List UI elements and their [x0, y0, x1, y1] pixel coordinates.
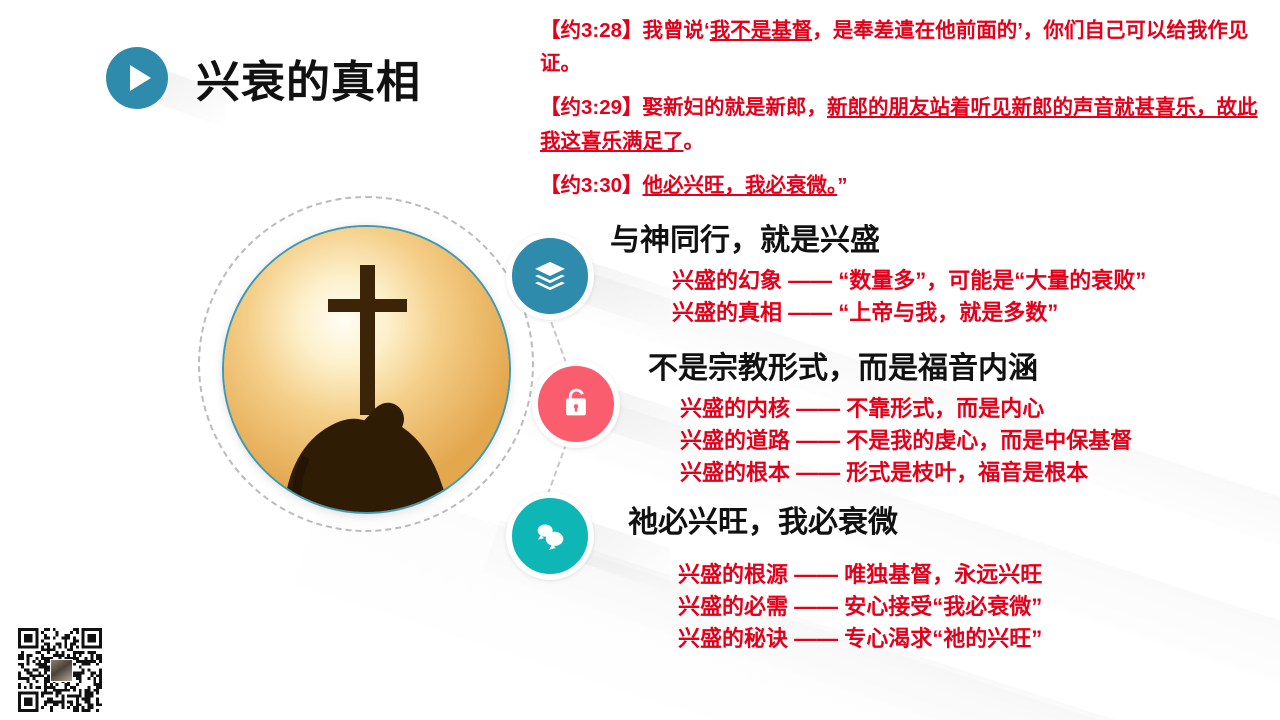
scripture-verse: 【约3:28】我曾说‘我不是基督，是奉差遣在他前面的’，你们自己可以给我作见证。: [540, 14, 1270, 80]
connector-line-2: [547, 443, 567, 494]
section-3: 祂必兴旺，我必衰微 兴盛的根源 —— 唯独基督，永远兴旺 兴盛的必需 —— 安心…: [628, 506, 1042, 655]
section-1-heading: 与神同行，就是兴盛: [610, 224, 1146, 259]
scripture-verse: 【约3:30】他必兴旺，我必衰微。”: [540, 169, 1270, 202]
scripture-verse: 【约3:29】娶新妇的就是新郎，新郎的朋友站着听见新郎的声音就甚喜乐，故此我这喜…: [540, 91, 1270, 157]
verse-text: 。: [684, 130, 705, 153]
qr-center-logo: [50, 659, 73, 682]
qr-code[interactable]: [18, 628, 102, 712]
section-2-line-3: 兴盛的根本 —— 形式是枝叶，福音是根本: [680, 457, 1132, 489]
sunset-cross-photo: [222, 225, 511, 514]
section-2-lines: 兴盛的内核 —— 不靠形式，而是内心 兴盛的道路 —— 不是我的虔心，而是中保基…: [648, 393, 1132, 489]
section-2-heading: 不是宗教形式，而是福音内涵: [648, 352, 1132, 387]
verse-reference: 【约3:28】: [540, 19, 643, 42]
verse-reference: 【约3:30】: [540, 174, 643, 197]
section-1-line-2: 兴盛的真相 —— “上帝与我，就是多数”: [672, 297, 1146, 329]
verse-text: 我曾说‘: [643, 19, 710, 42]
brand-logo: [88, 28, 192, 132]
play-button-icon[interactable]: [106, 47, 168, 109]
section-3-lines: 兴盛的根源 —— 唯独基督，永远兴旺 兴盛的必需 —— 安心接受“我必衰微” 兴…: [628, 559, 1042, 655]
page-title: 兴衰的真相: [196, 46, 421, 110]
scripture-block: 【约3:28】我曾说‘我不是基督，是奉差遣在他前面的’，你们自己可以给我作见证。…: [540, 14, 1270, 213]
section-3-line-3: 兴盛的秘诀 —— 专心渴求“祂的兴旺”: [678, 623, 1042, 655]
section-1: 与神同行，就是兴盛 兴盛的幻象 —— “数量多”，可能是“大量的衰败” 兴盛的真…: [610, 224, 1146, 329]
verse-text: 娶新妇的就是新郎，: [643, 96, 828, 119]
chat-bubbles-icon[interactable]: [506, 492, 594, 580]
section-3-heading: 祂必兴旺，我必衰微: [628, 506, 1042, 541]
section-2-line-1: 兴盛的内核 —— 不靠形式，而是内心: [680, 393, 1132, 425]
section-3-line-2: 兴盛的必需 —— 安心接受“我必衰微”: [678, 591, 1042, 623]
section-3-line-1: 兴盛的根源 —— 唯独基督，永远兴旺: [678, 559, 1042, 591]
section-2-line-2: 兴盛的道路 —— 不是我的虔心，而是中保基督: [680, 425, 1132, 457]
section-1-line-1: 兴盛的幻象 —— “数量多”，可能是“大量的衰败”: [672, 265, 1146, 297]
layers-icon[interactable]: [506, 232, 594, 320]
verse-emphasis: 我不是基督: [710, 19, 813, 42]
presentation-slide: 兴衰的真相 【约3:28】我曾说‘我不是基督，是奉差遣在他前面的’，你们自己可以…: [0, 0, 1280, 720]
connector-line-1: [547, 313, 567, 363]
verse-reference: 【约3:29】: [540, 96, 643, 119]
unlock-icon[interactable]: [532, 360, 620, 448]
section-1-lines: 兴盛的幻象 —— “数量多”，可能是“大量的衰败” 兴盛的真相 —— “上帝与我…: [610, 265, 1146, 329]
verse-emphasis: 他必兴旺，我必衰微。: [643, 174, 838, 197]
verse-text: ”: [837, 174, 847, 197]
cross-silhouette-icon: [224, 227, 509, 512]
section-2: 不是宗教形式，而是福音内涵 兴盛的内核 —— 不靠形式，而是内心 兴盛的道路 —…: [648, 352, 1132, 489]
